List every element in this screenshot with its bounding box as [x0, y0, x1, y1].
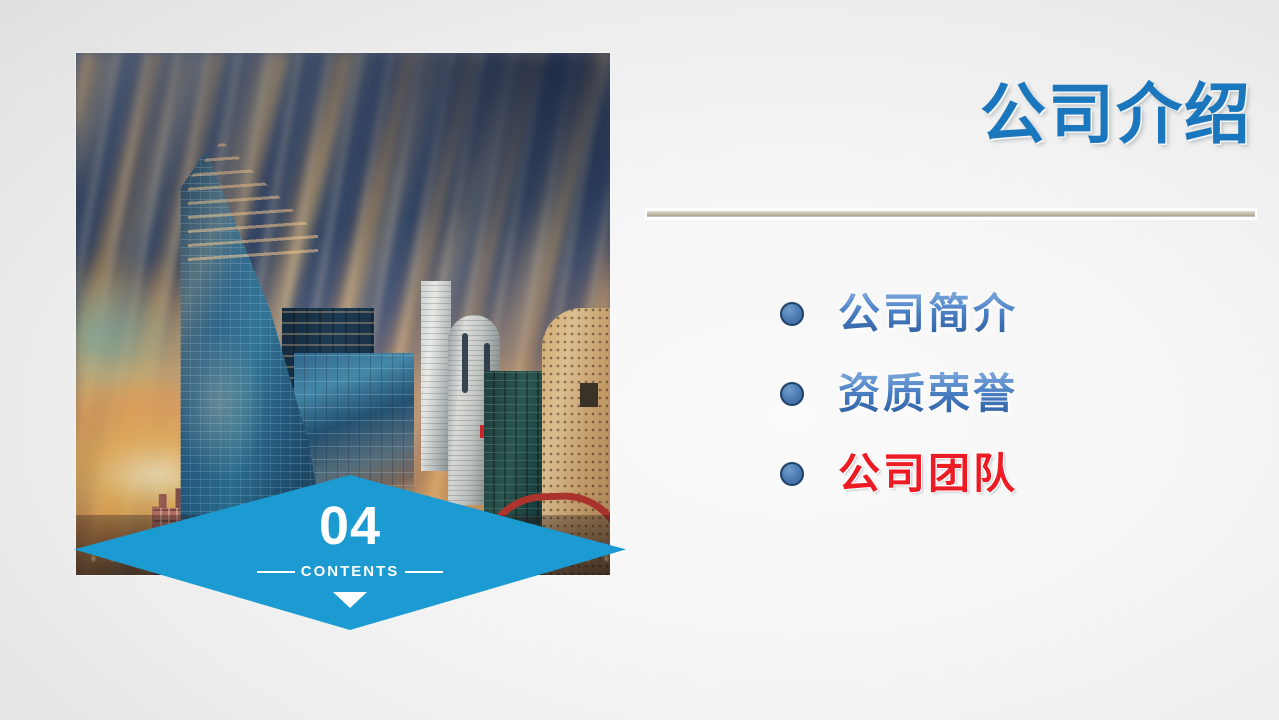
agenda-item-label: 公司简介: [838, 292, 1018, 336]
title-divider: [645, 208, 1257, 220]
bullet-dot-icon: [780, 382, 804, 406]
bullet-dot-icon: [780, 462, 804, 486]
page-title: 公司介绍: [980, 82, 1252, 148]
bullet-dot-icon: [780, 302, 804, 326]
agenda-item-label: 资质荣誉: [838, 372, 1018, 416]
title-divider-line: [647, 211, 1255, 217]
agenda-item-team[interactable]: 公司团队: [780, 452, 1018, 496]
slide-content-panel: 公司介绍 公司简介 资质荣誉 公司团队: [640, 60, 1260, 580]
agenda-item-company-intro[interactable]: 公司简介: [780, 292, 1018, 336]
agenda-item-label: 公司团队: [838, 452, 1018, 496]
presentation-slide: 04 CONTENTS 公司介绍 公司简介 资质荣誉 公司团队: [0, 0, 1279, 720]
agenda-item-qualifications[interactable]: 资质荣誉: [780, 372, 1018, 416]
agenda-list: 公司简介 资质荣誉 公司团队: [780, 292, 1018, 496]
